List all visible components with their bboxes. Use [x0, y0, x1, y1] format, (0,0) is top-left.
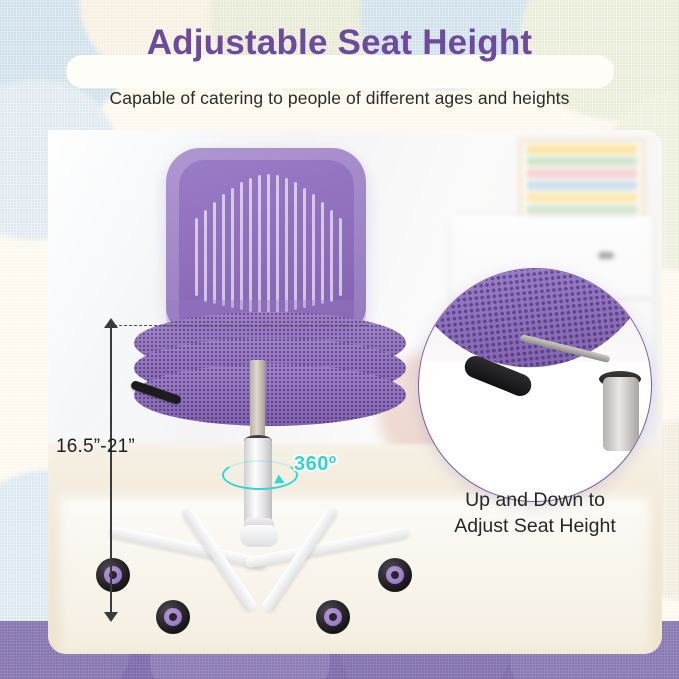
header: Adjustable Seat Height Capable of cateri… [0, 0, 679, 131]
dimension-arrow-down-icon [104, 612, 118, 622]
inset-caption-line1: Up and Down to [404, 487, 666, 513]
page-subtitle: Capable of catering to people of differe… [0, 88, 679, 109]
inset-seat-underside [418, 268, 652, 381]
dimension-leader-line [114, 325, 368, 326]
height-range-label: 16.5”-21” [56, 436, 135, 458]
dimension-line [110, 326, 112, 614]
inset-caption-line2: Adjust Seat Height [404, 513, 666, 539]
closeup-inset-circle [418, 268, 652, 502]
inset-gas-cylinder [603, 377, 639, 451]
page-title: Adjustable Seat Height [0, 23, 679, 63]
inset-caption: Up and Down to Adjust Seat Height [404, 487, 666, 539]
product-feature-card: Adjustable Seat Height Capable of cateri… [0, 0, 679, 679]
